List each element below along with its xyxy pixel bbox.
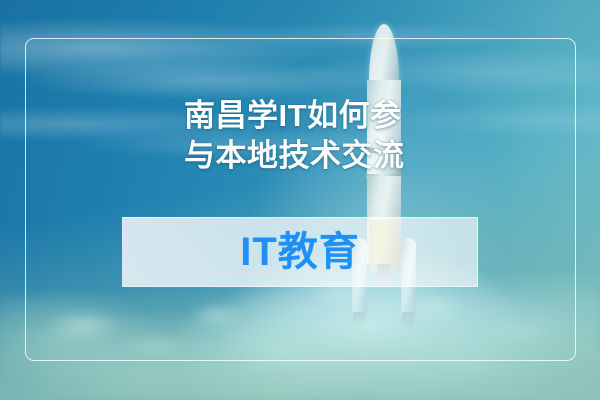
headline-block: 南昌学IT如何参 与本地技术交流 [184, 96, 424, 176]
subtitle-ribbon: IT教育 [122, 217, 478, 287]
headline-line-2: 与本地技术交流 [184, 136, 424, 176]
rocket-nose-cone [369, 24, 399, 86]
subtitle-text: IT教育 [240, 232, 360, 272]
ground-haze [0, 290, 600, 400]
headline-line-1: 南昌学IT如何参 [184, 96, 424, 136]
promo-banner: 南昌学IT如何参 与本地技术交流 IT教育 [0, 0, 600, 400]
